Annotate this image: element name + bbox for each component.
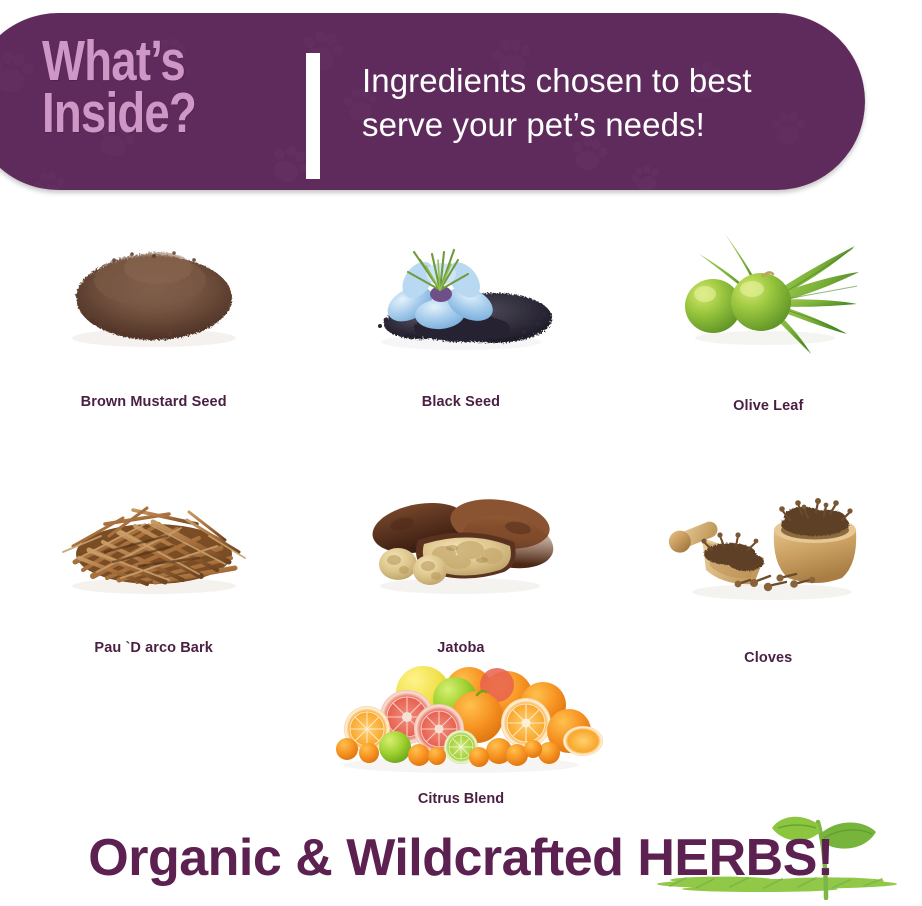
ingredient-grid: Brown Mustard Seed: [0, 212, 922, 690]
ingredient-card-black-seed: Black Seed: [307, 212, 614, 444]
pau-darco-bark-image: [0, 466, 307, 616]
ingredient-label: Brown Mustard Seed: [0, 394, 307, 410]
ingredient-label: Olive Leaf: [615, 398, 922, 414]
cloves-image: [615, 466, 922, 616]
ingredient-label: Black Seed: [307, 394, 614, 410]
whats-inside-infographic: What’s Inside? Ingredients chosen to bes…: [0, 0, 922, 906]
ingredient-card-citrus-blend: Citrus Blend: [0, 655, 922, 825]
footer: Organic & Wildcrafted HERBS!: [0, 814, 922, 900]
brown-mustard-seed-image: [0, 220, 307, 370]
ingredient-label: Jatoba: [307, 640, 614, 656]
header-banner: What’s Inside? Ingredients chosen to bes…: [0, 13, 865, 190]
ingredient-label: Citrus Blend: [0, 791, 922, 807]
banner-divider: [306, 53, 320, 179]
ingredient-card-olive-leaf: Olive Leaf: [615, 212, 922, 444]
citrus-blend-image: [0, 655, 922, 775]
ingredient-label: Pau `D arco Bark: [0, 640, 307, 656]
ingredient-card-brown-mustard-seed: Brown Mustard Seed: [0, 212, 307, 444]
black-seed-image: [307, 220, 614, 370]
olive-leaf-image: [615, 220, 922, 370]
ingredient-row: Brown Mustard Seed: [0, 212, 922, 444]
footer-heading: Organic & Wildcrafted HERBS!: [0, 828, 922, 888]
jatoba-image: [307, 466, 614, 616]
banner-title: What’s Inside?: [42, 35, 242, 140]
banner-subtitle: Ingredients chosen to best serve your pe…: [362, 59, 842, 146]
